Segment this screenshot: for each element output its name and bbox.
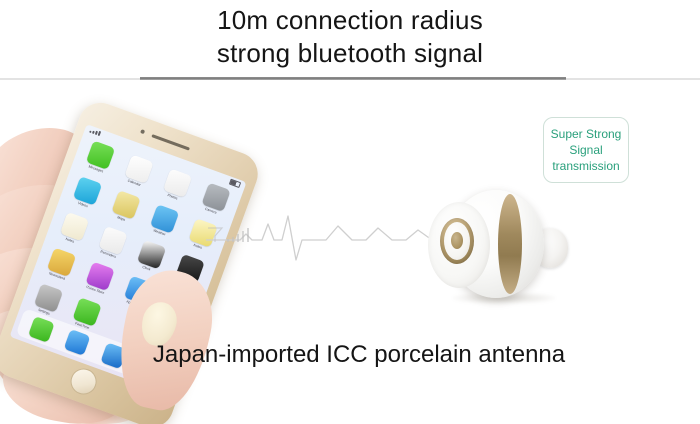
antenna-signal-bars-icon [206,222,262,246]
signal-strength-icon [89,128,101,136]
app-tile[interactable]: Reminders [92,224,133,262]
product-banner: 10m connection radius strong bluetooth s… [0,0,700,424]
signal-waveform-graphic [206,206,446,268]
battery-icon [229,178,241,187]
app-tile[interactable] [28,315,55,342]
app-tile[interactable]: Maps [105,188,146,226]
earbud-gold-ring [498,194,522,294]
bluetooth-earbud [424,186,570,304]
phone-icon[interactable] [28,315,55,342]
status-badge: Super Strong Signal transmission [543,117,629,183]
app-tile[interactable]: Messages [79,139,120,177]
headline-line-2: strong bluetooth signal [0,37,700,70]
app-tile[interactable]: Newsstand [40,246,81,284]
app-tile[interactable]: Photos [156,167,197,205]
app-tile[interactable]: Calendar [118,153,159,191]
app-tile[interactable]: iTunes Store [79,260,120,298]
app-tile[interactable]: Videos [66,174,107,212]
hand-holding-phone: MessagesCalendarPhotosCameraVideosMapsWe… [0,120,264,424]
earbud-center-button[interactable] [451,232,463,249]
headline-line-1: 10m connection radius [0,4,700,37]
caption-text: Japan-imported ICC porcelain antenna [0,340,700,370]
app-tile[interactable]: Weather [143,202,184,240]
app-tile[interactable]: Notes [53,210,94,248]
page-title: 10m connection radius strong bluetooth s… [0,4,700,70]
header-divider-accent [140,77,566,80]
